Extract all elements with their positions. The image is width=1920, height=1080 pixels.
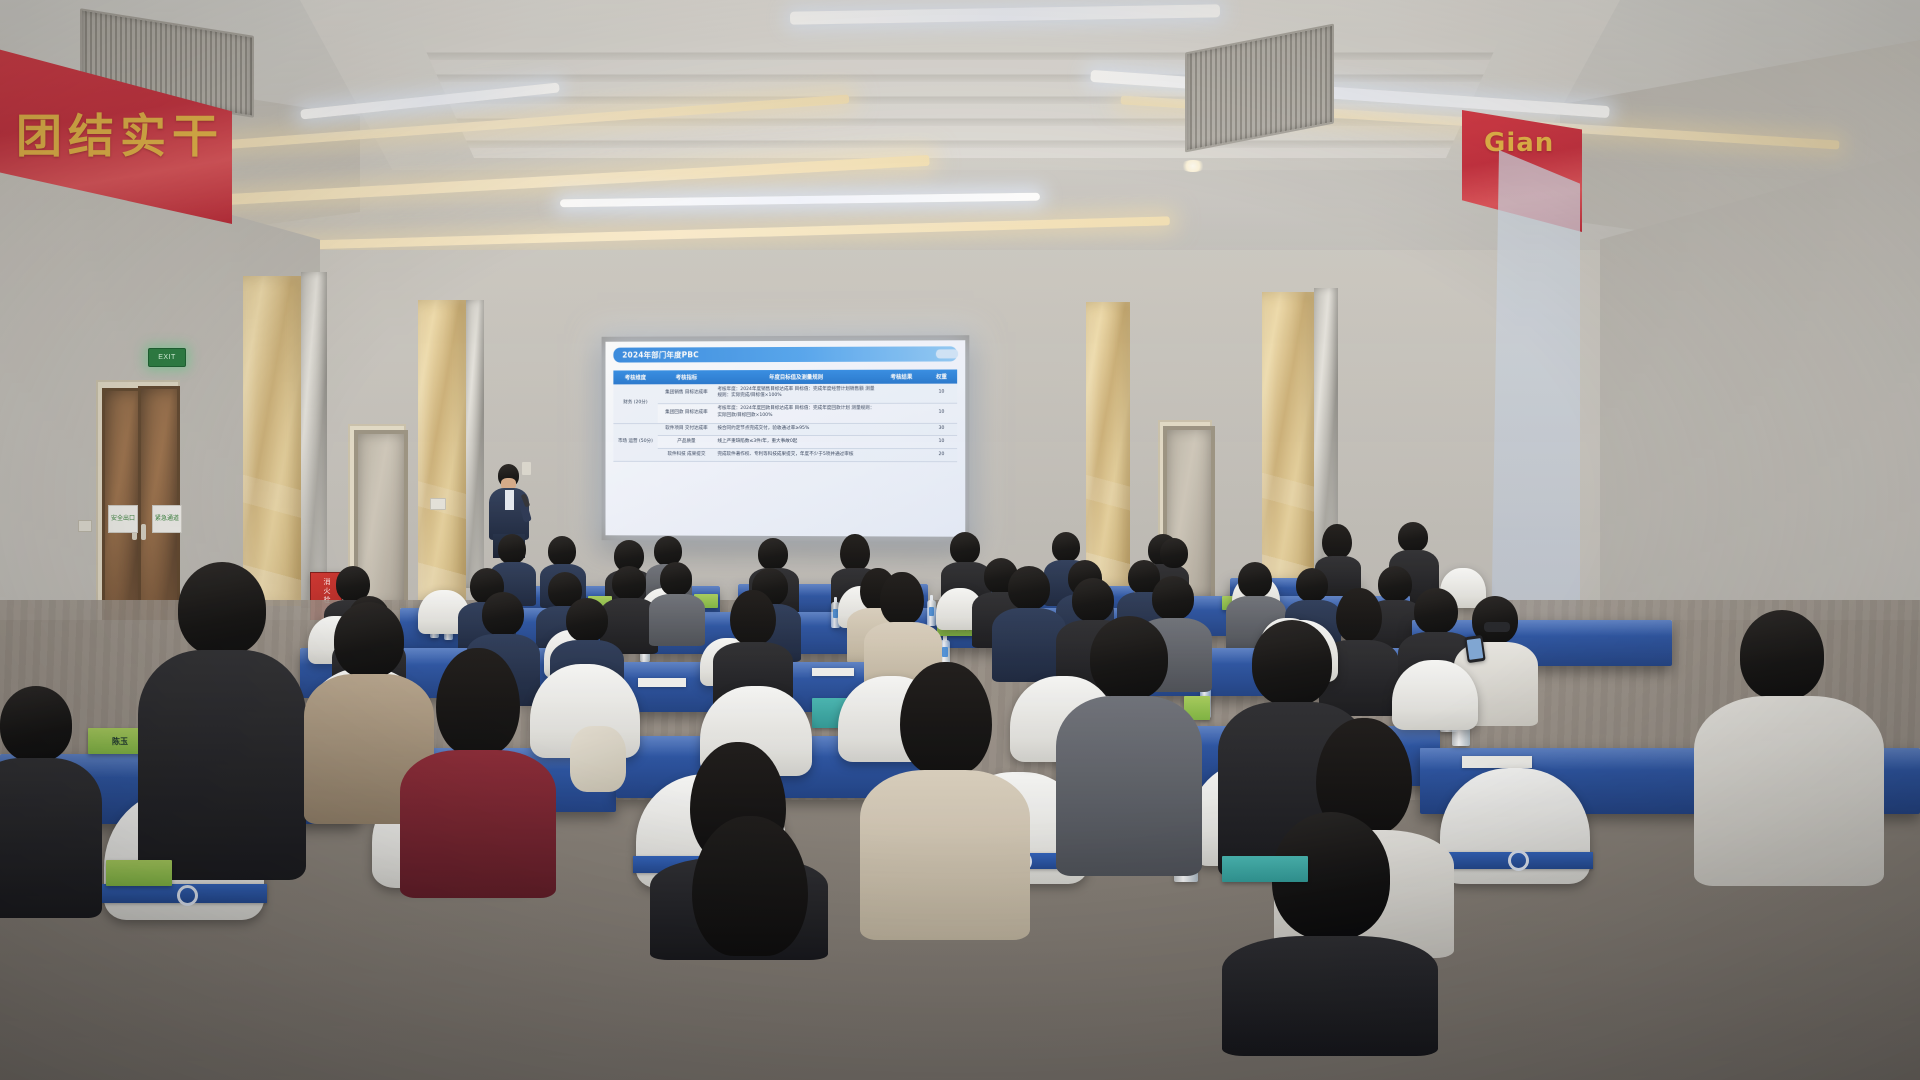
cell-weight: 30 (926, 423, 957, 436)
th-weight: 权重 (926, 369, 957, 383)
attendee-head (0, 686, 72, 762)
attendee-head (660, 562, 692, 596)
attendee-head (900, 662, 992, 774)
cell-indicator: 软件项目 交付达成率 (657, 423, 715, 436)
cell-weight: 10 (926, 403, 957, 423)
attendee-head (612, 566, 646, 600)
gold-marble-column (1086, 302, 1130, 588)
chair-buckle (177, 885, 198, 906)
exit-sign-label: EXIT (158, 354, 176, 361)
attendee-head (1322, 524, 1352, 558)
attendee-head (692, 816, 808, 956)
cell-indicator: 产品质量 (657, 436, 715, 449)
attendee-head (880, 572, 924, 624)
pbc-table: 考核维度 考核指标 年度目标值及测量规则 考核结果 权重 财务 (20分) 集团… (613, 369, 957, 462)
attendee-torso (0, 758, 102, 918)
attendee-torso (860, 770, 1030, 940)
banquet-chair[interactable] (1440, 768, 1590, 884)
safety-sign-line1: 安全出口 (111, 516, 135, 523)
cell-indicator: 集团销售 目标达成率 (657, 384, 715, 403)
attendee-head (482, 592, 524, 636)
table-row: 市场 运营 (50分) 软件项目 交付达成率 按合同约定节点完成交付，验收通过率… (613, 423, 957, 436)
projection-screen: 2024年部门年度PBC 考核维度 考核指标 年度目标值及测量规则 考核结果 权… (606, 340, 966, 537)
table-row: 集团回款 目标达成率 考核年度：2024年度回款目标达成率 目标值：完成年度回款… (613, 403, 957, 423)
attendee-head (1090, 616, 1168, 700)
cell-goal: 考核年度：2024年度销售目标达成率 目标值：完成年度经营计划销售额 测量规则：… (715, 384, 877, 404)
gold-marble-column (418, 300, 466, 600)
attendee-head (1378, 566, 1412, 602)
cell-result (877, 403, 926, 423)
slide-title-text: 2024年部门年度PBC (622, 349, 699, 360)
cell-result (877, 384, 926, 403)
name-placard (106, 860, 172, 886)
smartphone[interactable] (1464, 635, 1485, 663)
attendee-head (178, 562, 266, 656)
document-sheet[interactable] (812, 668, 854, 676)
attendee-head (1152, 576, 1194, 620)
attendee-torso (138, 650, 306, 880)
attendee-torso (649, 594, 705, 646)
attendee-head (1160, 538, 1188, 568)
cell-weight: 10 (926, 384, 957, 403)
attendee-head (1052, 532, 1080, 562)
attendee-head (566, 598, 608, 642)
metal-pilaster (466, 300, 484, 588)
pbc-table-body: 财务 (20分) 集团销售 目标达成率 考核年度：2024年度销售目标达成率 目… (613, 384, 957, 462)
attendee-head (1252, 620, 1332, 706)
attendee-head (1238, 562, 1272, 598)
attendee-head (950, 532, 980, 564)
cell-weight: 20 (926, 449, 957, 462)
table-header-row: 考核维度 考核指标 年度目标值及测量规则 考核结果 权重 (613, 369, 957, 384)
eyeglasses (1484, 622, 1510, 632)
cell-goal: 考核年度：2024年度回款目标达成率 目标值：完成年度回款计划 测量规则：实际回… (715, 403, 877, 423)
attendee-head (1008, 566, 1050, 610)
wall-outlet (430, 498, 446, 510)
attendee-head (758, 538, 788, 570)
th-result: 考核结果 (877, 370, 926, 384)
table-row: 产品质量 线上严重缺陷数≤3件/年，重大事故0起 10 (613, 436, 957, 449)
gold-marble-column (1262, 292, 1314, 592)
cell-goal: 线上严重缺陷数≤3件/年，重大事故0起 (715, 436, 877, 449)
presenter-shirt (505, 490, 514, 510)
cell-result (877, 423, 926, 436)
document-sheet[interactable] (1462, 756, 1532, 768)
document-sheet[interactable] (638, 678, 686, 687)
banner-right-text: Gian (1484, 128, 1554, 158)
cell-result (877, 449, 926, 462)
placard-label: 陈玉 (112, 736, 128, 747)
banquet-chair[interactable] (1392, 660, 1478, 730)
attendee-head (1296, 568, 1328, 602)
th-dimension: 考核维度 (613, 370, 657, 384)
cell-goal: 完成软件著作权、专利等科技成果提交，年度不少于5项并通过审核 (715, 449, 877, 462)
slide-title-bar: 2024年部门年度PBC (613, 346, 957, 362)
safety-sign: 紧急通道 (152, 505, 182, 533)
th-indicator: 考核指标 (657, 370, 715, 384)
gold-marble-column (243, 276, 301, 606)
metal-pilaster (301, 272, 327, 608)
safety-sign-line2: 紧急通道 (155, 516, 179, 523)
cell-dimension: 市场 运营 (50分) (613, 423, 657, 461)
attendee-head (730, 590, 776, 644)
attendee-head (1414, 588, 1458, 634)
attendee-head (840, 534, 870, 570)
door-handle[interactable] (141, 524, 146, 540)
cell-weight: 10 (926, 436, 957, 449)
cell-result (877, 436, 926, 449)
ceiling-downlight (1180, 160, 1206, 172)
name-placard (1222, 856, 1308, 882)
presentation-slide: 2024年部门年度PBC 考核维度 考核指标 年度目标值及测量规则 考核结果 权… (606, 340, 966, 537)
table-row: 财务 (20分) 集团销售 目标达成率 考核年度：2024年度销售目标达成率 目… (613, 384, 957, 404)
projection-screen-frame: 2024年部门年度PBC 考核维度 考核指标 年度目标值及测量规则 考核结果 权… (602, 335, 970, 542)
handbag[interactable] (570, 726, 626, 792)
cell-dimension: 财务 (20分) (613, 384, 657, 423)
attendee-head (334, 602, 404, 678)
attendee-head (498, 534, 526, 564)
attendee-torso (992, 608, 1066, 682)
attendee-torso (1694, 696, 1884, 886)
cell-indicator: 软件科技 成果提交 (657, 449, 715, 462)
exit-sign: EXIT (148, 348, 186, 367)
cell-goal: 按合同约定节点完成交付，验收通过率≥95% (715, 423, 877, 436)
attendee-head (1072, 578, 1114, 622)
attendee-head (436, 648, 520, 754)
water-bottle[interactable] (927, 600, 936, 626)
attendee-head (1336, 588, 1382, 642)
light-switch[interactable] (78, 520, 92, 532)
conference-room-photo: EXIT 安全出口 紧急通道 消火栓 团结实干 Gian 2024年部门年度PB… (0, 0, 1920, 1080)
safety-sign: 安全出口 (108, 505, 138, 533)
attendee-torso (1222, 936, 1438, 1056)
table-row: 软件科技 成果提交 完成软件著作权、专利等科技成果提交，年度不少于5项并通过审核… (613, 449, 957, 462)
attendee-torso (400, 750, 556, 898)
attendee-torso (1056, 696, 1202, 876)
banner-left-text: 团结实干 (16, 100, 224, 166)
th-goal: 年度目标值及测量规则 (715, 370, 877, 384)
attendee-head (1398, 522, 1428, 552)
attendee-head (548, 536, 576, 566)
attendee-head (1740, 610, 1824, 700)
cell-indicator: 集团回款 目标达成率 (657, 403, 715, 423)
